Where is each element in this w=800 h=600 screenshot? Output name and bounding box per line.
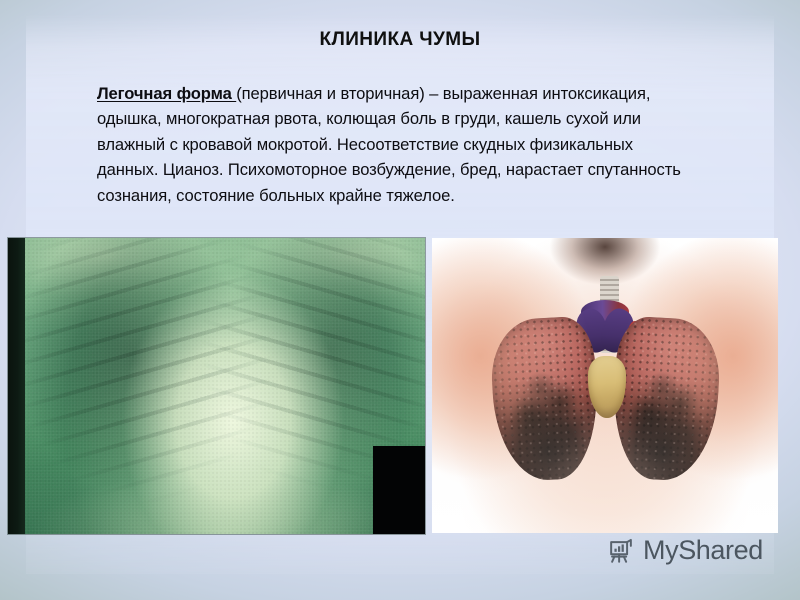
xray-corner-block — [373, 446, 425, 534]
watermark-label: MyShared — [643, 535, 763, 566]
body-lead-term: Легочная форма — [97, 84, 236, 103]
xray-film-grain — [25, 238, 425, 534]
xray-film-surface — [25, 238, 425, 534]
lung-left-speckle — [488, 315, 600, 482]
presentation-chart-icon — [606, 536, 636, 566]
slide-image-row — [0, 237, 800, 535]
lung-left-shape — [488, 315, 600, 482]
lung-right-shape — [609, 315, 721, 482]
lung-right-speckle — [609, 315, 721, 482]
slide-title: КЛИНИКА ЧУМЫ — [0, 29, 800, 51]
myshared-watermark: MyShared — [606, 535, 763, 566]
chest-xray-photo — [8, 238, 425, 534]
slide-body-text: Легочная форма (первичная и вторичная) –… — [97, 81, 697, 208]
lungs-anatomy-photo — [432, 238, 778, 533]
xray-film-edge — [8, 238, 25, 534]
presentation-slide: КЛИНИКА ЧУМЫ Легочная форма (первичная и… — [0, 0, 800, 600]
torso-illustration — [432, 238, 778, 533]
